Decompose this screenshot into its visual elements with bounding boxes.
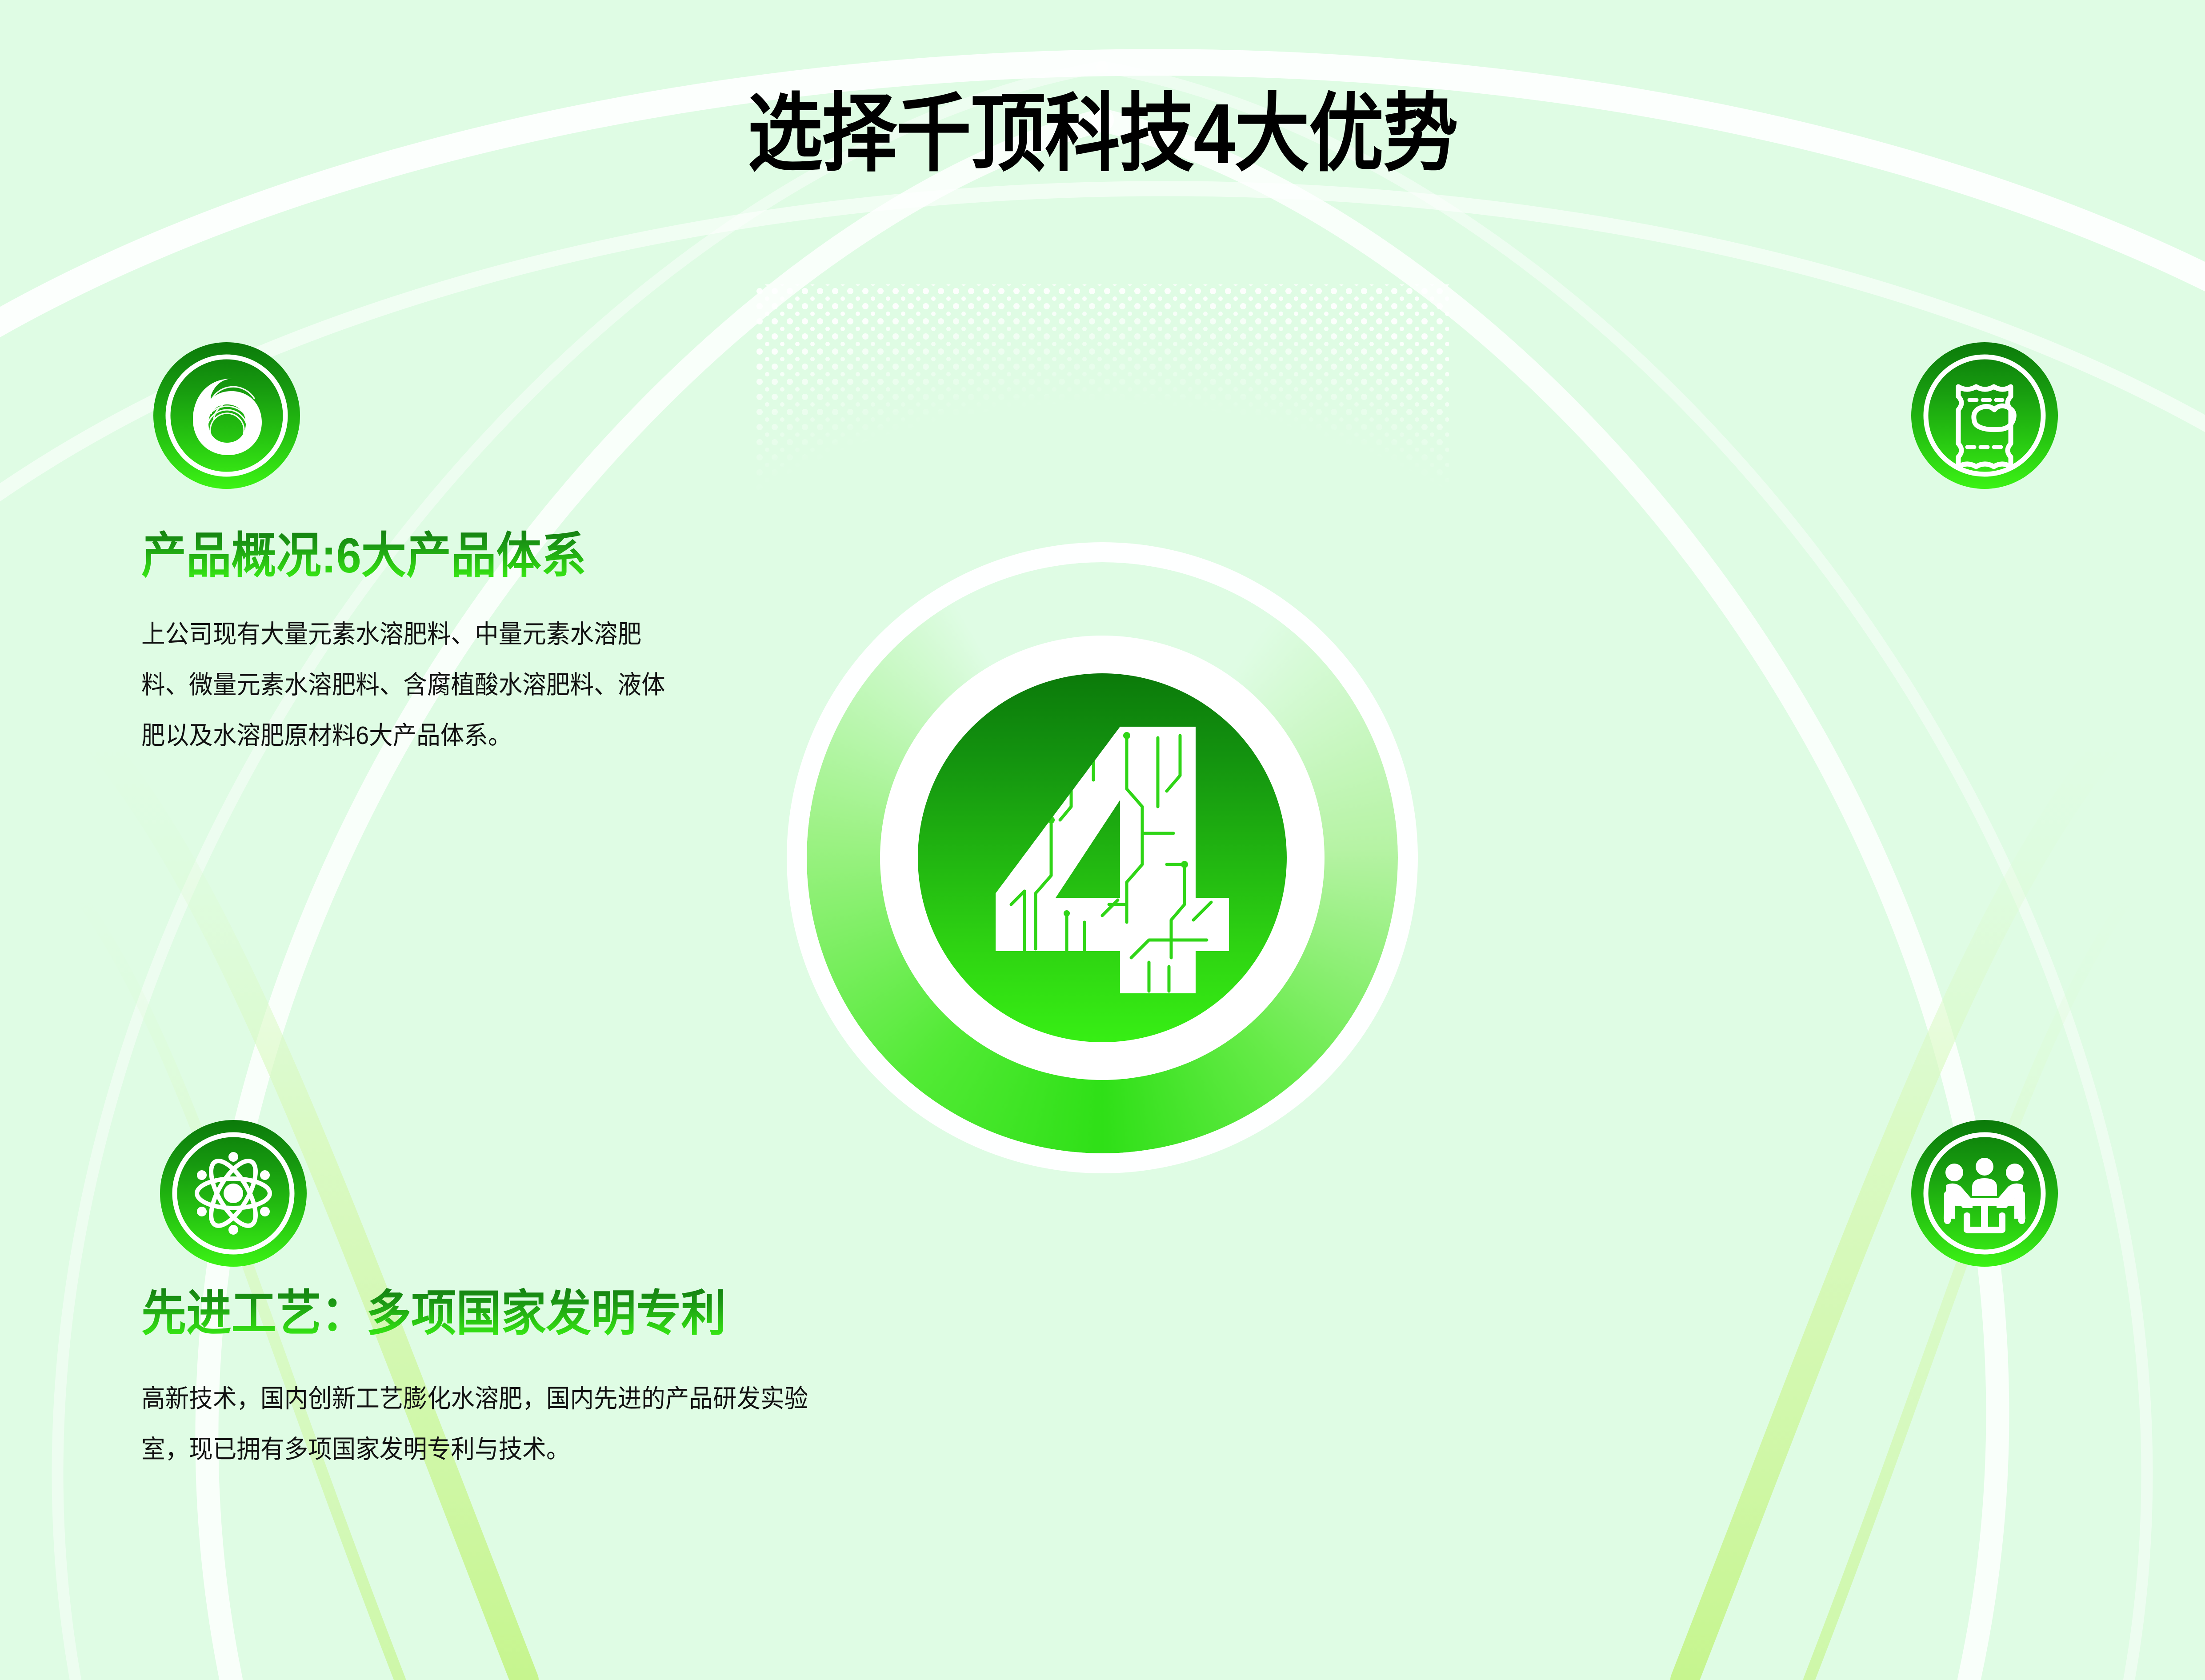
circuit-four-numeral-icon: [918, 673, 1287, 1042]
advantage-heading: 先进工艺：多项国家发明专利: [141, 1287, 726, 1340]
advantage-body: 上公司现有大量元素水溶肥料、中量元素水溶肥料、微量元素水溶肥料、含腐植酸水溶肥料…: [141, 609, 672, 761]
atom-icon: [160, 1120, 307, 1267]
page-title: 选择千顶科技4大优势: [132, 89, 2073, 179]
fertilizer-bag-icon: [1911, 342, 2058, 489]
advantage-body: 高新技术，国内创新工艺膨化水溶肥，国内先进的产品研发实验室，现已拥有多项国家发明…: [141, 1373, 848, 1475]
meeting-table-icon: [1911, 1120, 2058, 1267]
infographic-canvas: 选择千顶科技4大优势: [0, 0, 2205, 1680]
numeral-six-icon: [153, 342, 300, 489]
advantage-heading: 产品概况:6大产品体系: [141, 529, 586, 583]
